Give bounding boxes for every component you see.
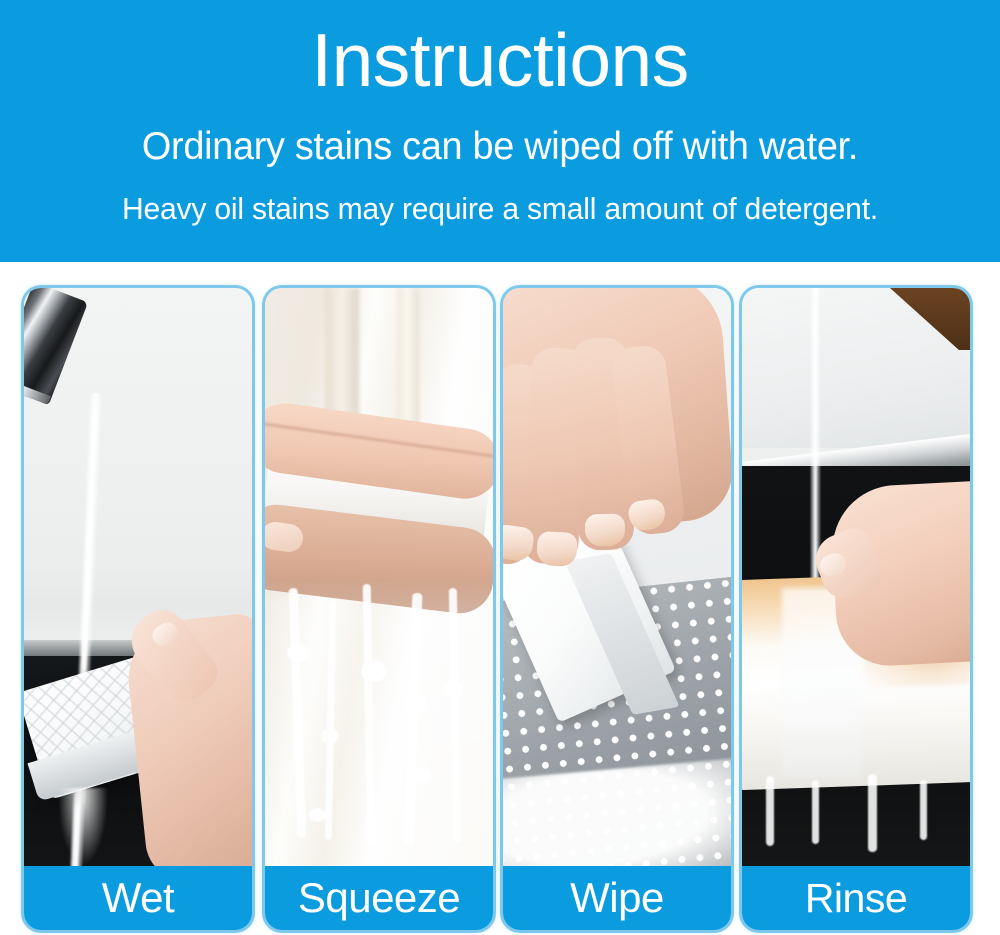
water-droplet — [287, 644, 309, 662]
step-photo-rinse — [742, 288, 970, 866]
fingernail — [536, 531, 578, 567]
water-drip — [868, 774, 877, 852]
water-drip — [812, 780, 819, 844]
step-photo-squeeze — [265, 288, 493, 866]
water-drip — [766, 776, 774, 846]
water-droplet — [309, 808, 326, 822]
step-photo-wet — [24, 288, 252, 866]
step-label-wipe: Wipe — [503, 866, 731, 930]
water-droplet — [321, 728, 339, 744]
water-droplet — [403, 694, 427, 714]
steps-row: Wet Squeeze — [0, 262, 1000, 935]
step-photo-wipe — [503, 288, 731, 866]
step-card-wet[interactable]: Wet — [24, 288, 252, 930]
header-subtitle-line-2: Heavy oil stains may require a small amo… — [15, 189, 985, 229]
water-drip — [920, 780, 927, 840]
water-splash — [58, 788, 108, 866]
step-label-squeeze: Squeeze — [265, 866, 493, 930]
page-title: Instructions — [0, 14, 1000, 106]
instructions-header: Instructions Ordinary stains can be wipe… — [0, 0, 1000, 262]
step-label-wet: Wet — [24, 866, 252, 930]
step-label-rinse: Rinse — [742, 866, 970, 930]
fingernail — [584, 513, 625, 546]
step-card-rinse[interactable]: Rinse — [742, 288, 970, 930]
water-droplet — [413, 768, 431, 783]
step-card-squeeze[interactable]: Squeeze — [265, 288, 493, 930]
water-droplet — [361, 660, 387, 682]
header-subtitle-line-1: Ordinary stains can be wiped off with wa… — [15, 123, 985, 171]
step-card-wipe[interactable]: Wipe — [503, 288, 731, 930]
water-droplet — [443, 680, 463, 698]
